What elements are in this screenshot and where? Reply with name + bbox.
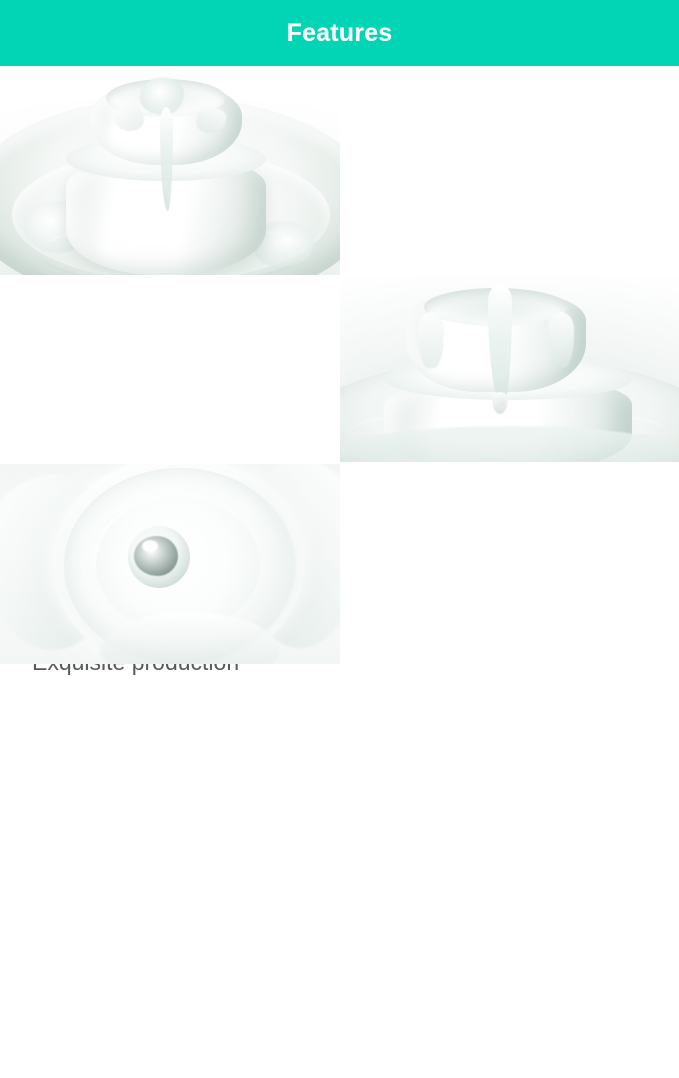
feature-caption-cell-2: Exquisite production (0, 276, 340, 462)
ceramic-notch-right (548, 312, 574, 368)
water-spill-left (114, 105, 144, 131)
feature-caption-cell-1: Classic design (340, 71, 679, 275)
feature-row-3: Reinforced porcelain material (0, 464, 679, 664)
features-header-bar: Features (0, 0, 679, 66)
fountain-three-quarter-image (0, 71, 340, 275)
feature-row-1: Classic design (0, 71, 679, 275)
feature-caption-cell-3: Reinforced porcelain material (340, 464, 679, 664)
feature-photo-exquisite-production (340, 276, 679, 462)
feature-photo-classic-design (0, 71, 340, 275)
photo-vignette (0, 464, 340, 664)
fountain-top-down-image (0, 464, 340, 664)
feature-row-2: Exquisite production (0, 276, 679, 462)
page-title: Features (287, 21, 393, 46)
feature-photo-reinforced-porcelain (0, 464, 340, 664)
ceramic-notch-left (418, 312, 444, 368)
features-page: Features (0, 0, 679, 664)
fountain-crown-closeup-image (340, 276, 679, 462)
